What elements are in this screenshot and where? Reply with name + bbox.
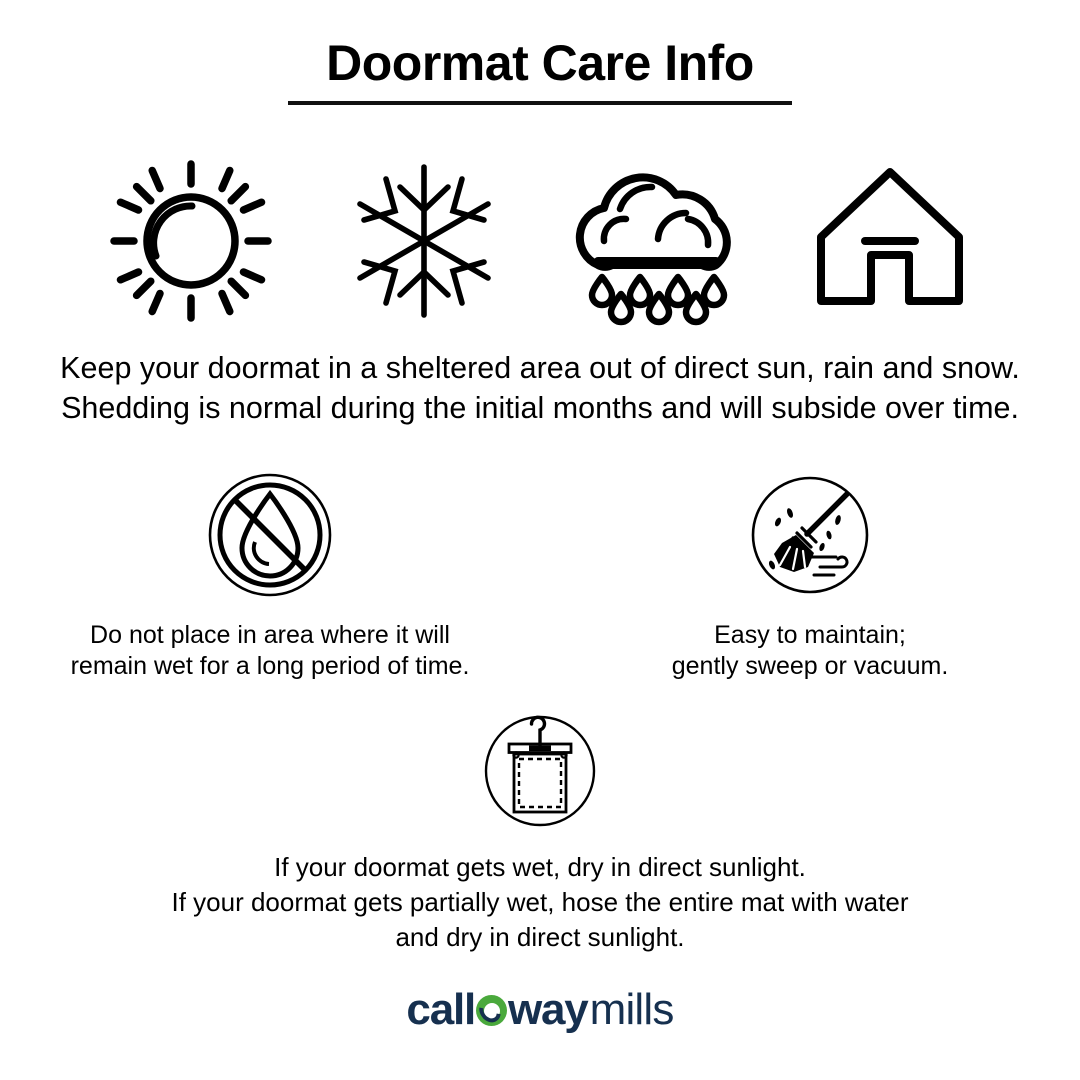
intro-line-1: Keep your doormat in a sheltered area ou… <box>0 348 1080 388</box>
care-caption-sweep: Easy to maintain; gently sweep or vacuum… <box>672 620 949 682</box>
title-underline-rule <box>288 101 792 105</box>
care-item-sweep: Easy to maintain; gently sweep or vacuum… <box>540 470 1080 682</box>
calloway-mills-logo: call way mills <box>406 988 673 1032</box>
care-item-no-water: Do not place in area where it will remai… <box>0 470 540 682</box>
care-caption-sweep-line-1: Easy to maintain; <box>672 620 949 651</box>
weather-cell-shelter <box>773 152 1006 330</box>
care-instruction-row: Do not place in area where it will remai… <box>0 470 1080 682</box>
house-icon <box>813 165 967 317</box>
rain-cloud-icon <box>568 161 746 321</box>
care-caption-no-water: Do not place in area where it will remai… <box>71 620 470 682</box>
sun-icon <box>108 158 274 324</box>
no-water-icon <box>207 472 333 598</box>
weather-cell-rain <box>540 152 773 330</box>
broom-icon <box>750 475 870 595</box>
weather-icon-row <box>0 152 1080 330</box>
logo-text-call: call <box>406 988 475 1032</box>
broom-icon-wrap <box>745 470 875 600</box>
care-caption-sweep-line-2: gently sweep or vacuum. <box>672 651 949 682</box>
hang-to-dry-icon <box>482 714 598 828</box>
no-water-icon-wrap <box>205 470 335 600</box>
drying-instruction-block: If your doormat gets wet, dry in direct … <box>0 712 1080 955</box>
drying-caption: If your doormat gets wet, dry in direct … <box>171 850 908 955</box>
drying-caption-line-2: If your doormat gets partially wet, hose… <box>171 885 908 920</box>
logo-text-way: way <box>508 988 588 1032</box>
page-title: Doormat Care Info <box>0 34 1080 92</box>
weather-cell-snow <box>307 152 540 330</box>
care-caption-no-water-line-1: Do not place in area where it will <box>71 620 470 651</box>
weather-cell-sun <box>74 152 307 330</box>
intro-line-2: Shedding is normal during the initial mo… <box>0 388 1080 428</box>
care-caption-no-water-line-2: remain wet for a long period of time. <box>71 651 470 682</box>
header: Doormat Care Info <box>0 34 1080 105</box>
brand-logo-wrap: call way mills <box>0 988 1080 1032</box>
intro-paragraph: Keep your doormat in a sheltered area ou… <box>0 348 1080 428</box>
drying-caption-line-1: If your doormat gets wet, dry in direct … <box>171 850 908 885</box>
snowflake-icon <box>348 161 500 321</box>
drying-caption-line-3: and dry in direct sunlight. <box>171 920 908 955</box>
green-o-icon <box>476 995 507 1026</box>
doormat-care-info-page: Doormat Care Info <box>0 0 1080 1080</box>
logo-text-mills: mills <box>590 988 674 1032</box>
hang-to-dry-icon-wrap <box>479 712 601 830</box>
